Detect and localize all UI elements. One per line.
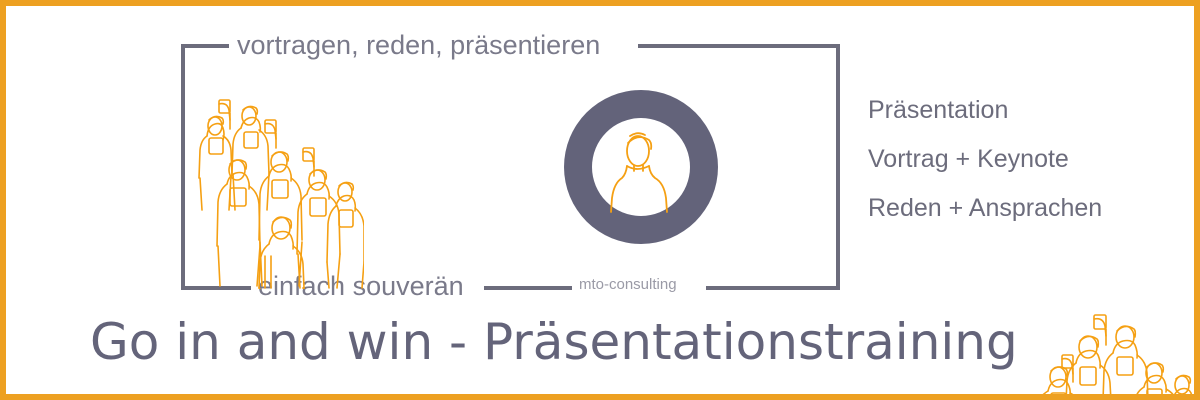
frame-line-bottom-mid [484,286,572,290]
frame-line-top-left [181,44,229,48]
logo-donut [564,90,718,244]
page-title: Go in and win - Präsentationstraining [90,317,1018,367]
speaker-figure-icon [594,118,688,216]
frame-line-bottom-right [706,286,840,290]
banner: vortragen, reden, präsentieren einfach s… [0,0,1200,400]
audience-crowd-bottom-right-icon [1030,301,1200,400]
topic-item-1: Vortrag + Keynote [868,147,1168,172]
frame-caption-top: vortragen, reden, präsentieren [237,32,600,59]
audience-crowd-left-icon [189,84,364,289]
topic-list: Präsentation Vortrag + Keynote Reden + A… [868,98,1168,245]
frame-line-right [836,44,840,290]
topic-item-2: Reden + Ansprachen [868,196,1168,221]
brand-name: mto-consulting [579,277,677,292]
topic-item-0: Präsentation [868,98,1168,123]
frame-line-top-right [638,44,840,48]
frame-line-left [181,44,185,290]
